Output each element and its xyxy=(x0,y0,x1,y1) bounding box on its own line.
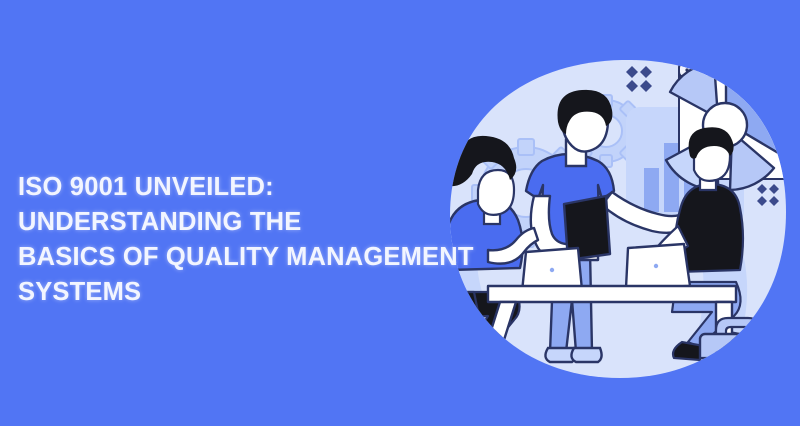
laptop-right xyxy=(626,244,690,288)
iso-9001-banner: ISO 9001 UNVEILED: UNDERSTANDING THE BAS… xyxy=(0,0,800,426)
browser-tab-bars xyxy=(710,67,782,73)
page-title: ISO 9001 UNVEILED: UNDERSTANDING THE BAS… xyxy=(18,170,488,310)
